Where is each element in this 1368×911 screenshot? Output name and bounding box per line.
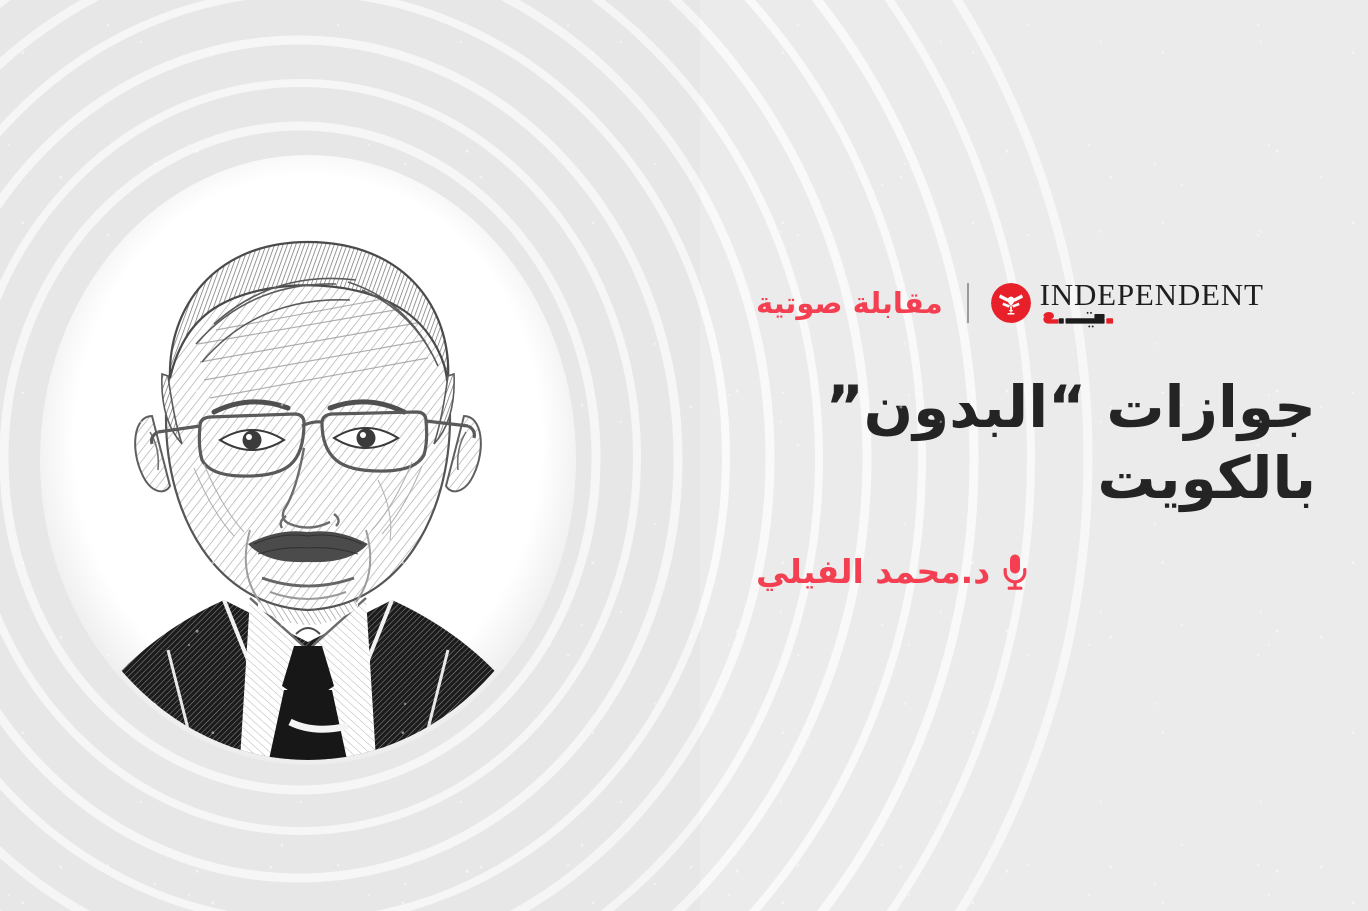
content-panel: مقابلة صوتية [756, 270, 1316, 591]
kicker-label: مقابلة صوتية [756, 286, 943, 320]
brand-wordmark-group: INDEPENDENT [1040, 279, 1264, 328]
speaker-name: د.محمد الفيلي [756, 552, 990, 591]
headline-line-1: جوازات “البدون” [826, 373, 1316, 441]
brand-arabia-wordmark [1040, 311, 1122, 328]
brand-lockup: INDEPENDENT [991, 279, 1264, 328]
page-title: جوازات “البدون” بالكويت [756, 372, 1316, 514]
portrait [18, 130, 598, 790]
speaker-row: د.محمد الفيلي [756, 552, 1316, 591]
header-row: مقابلة صوتية [756, 270, 1316, 336]
headline-line-2: بالكويت [1097, 444, 1316, 512]
portrait-sketch-icon [18, 130, 598, 790]
header-divider [967, 283, 969, 323]
audio-interview-card: مقابلة صوتية [0, 0, 1368, 911]
microphone-icon [1002, 553, 1028, 591]
eagle-icon [991, 283, 1031, 323]
brand-independent-wordmark: INDEPENDENT [1040, 279, 1264, 310]
